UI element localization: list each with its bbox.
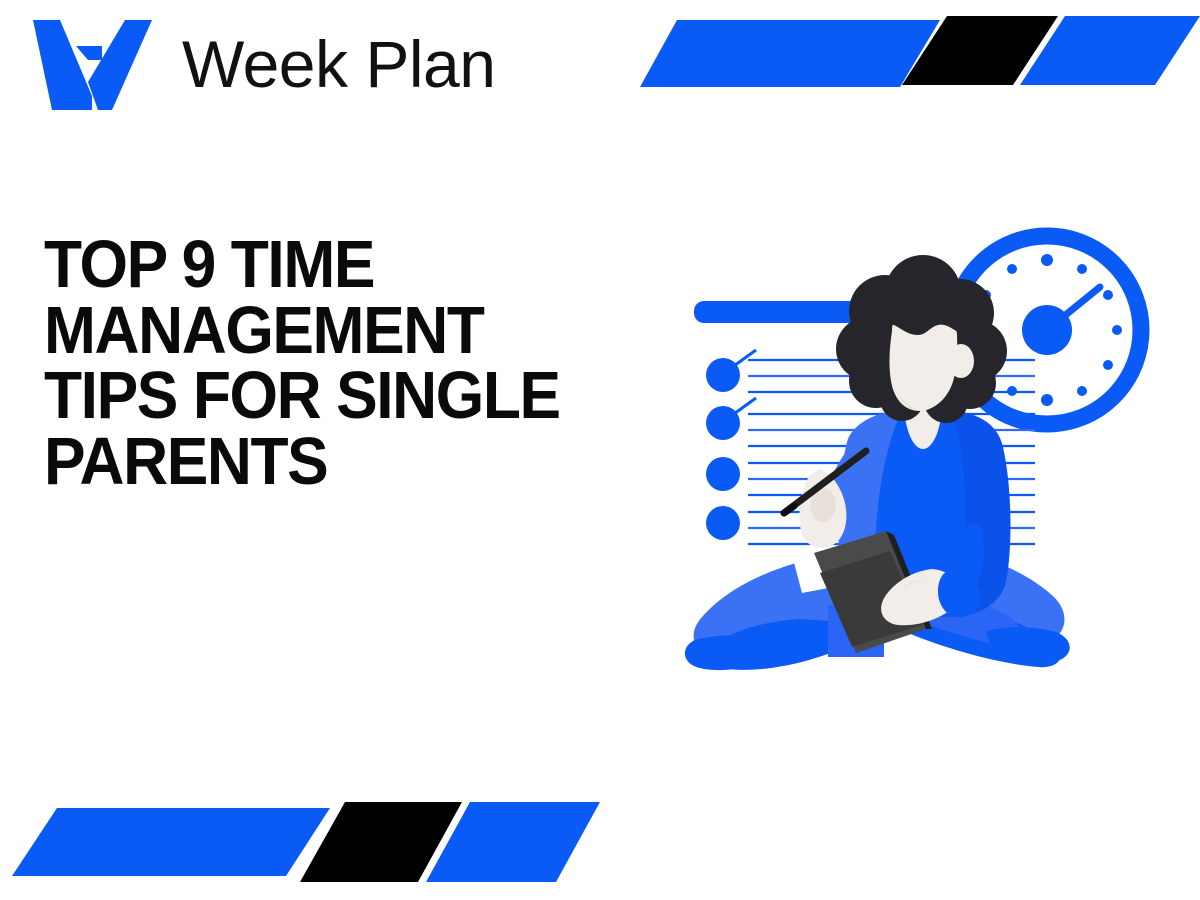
poster-canvas: Week Plan TOP 9 TIME MANAGEMENT TIPS FOR…	[0, 0, 1200, 900]
checklist-bullet	[706, 506, 740, 540]
ribbon-shape-blue-wide	[640, 20, 940, 87]
parallelogram-ribbon-top-right	[640, 0, 1200, 112]
checklist-bullet	[706, 406, 740, 440]
person-ear	[948, 344, 974, 378]
brand-logo[interactable]: Week Plan	[30, 18, 495, 110]
hero-illustration	[680, 225, 1180, 695]
clock-center-hub	[1022, 305, 1072, 355]
checklist-bullet	[706, 457, 740, 491]
checklist-bullet	[706, 358, 740, 392]
person-head	[836, 255, 1007, 423]
brand-name: Week Plan	[182, 31, 495, 97]
parallelogram-ribbon-bottom-left	[0, 792, 600, 892]
ribbon-shape-blue-wide	[12, 808, 330, 876]
week-plan-w-logomark	[30, 18, 160, 110]
page-title: TOP 9 TIME MANAGEMENT TIPS FOR SINGLE PA…	[44, 232, 621, 495]
